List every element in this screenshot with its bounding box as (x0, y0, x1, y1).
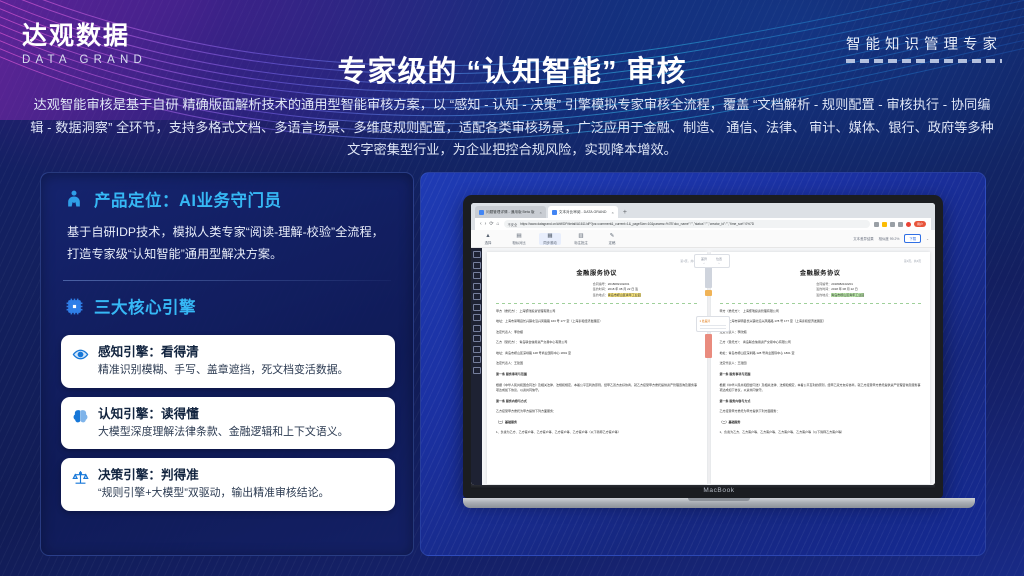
app-toolbar: ▲ 选择 ▤ 相似对比 ▦ 同步滚动 (471, 230, 935, 248)
warning-icon[interactable] (473, 356, 481, 363)
engine-card-desc: “规则引擎+大模型”双驱动，输出精准审核结论。 (98, 485, 329, 501)
toolbar-button-annotate[interactable]: ▥ 标注批注 (570, 233, 592, 245)
meta-key: 签约时间： (593, 287, 608, 291)
nav-buttons[interactable]: ‹ › ⟳ ⌂ (480, 221, 500, 227)
meta-value: 2018082102201 (831, 282, 853, 286)
meta-value: 2018 年 08 月 22 日 (831, 287, 858, 291)
file-icon[interactable] (473, 293, 481, 300)
engine-card-desc: 精准识别模糊、手写、盖章遮挡，死文档变活数据。 (98, 362, 349, 378)
doc-paragraph: 甲方（委托方）： 上海聚瑞投资管理有限公司 (720, 309, 922, 315)
eye-icon (71, 345, 90, 364)
toolbar-label: 同步滚动 (539, 240, 561, 245)
document-meta: 合同编号：2018082102201 签约时间：2018 年 08 月 22 日… (496, 282, 698, 298)
doc-paragraph: 乙方（受托方）： 青岛联合信用资产交易中心有限公司 (720, 340, 922, 346)
page-title: 专家级的 “认知智能” 审核 (0, 48, 1024, 90)
url-input[interactable]: 不安全 https://www.datagrand.cn/#/df/DP/det… (504, 220, 870, 228)
browser-tab-title: 文本对比审阅 - DATA GRAND (559, 210, 607, 215)
file-icon[interactable] (473, 335, 481, 342)
brand-name-cn: 达观数据 (22, 22, 202, 51)
diff-nav-next-icon[interactable]: › (719, 261, 720, 265)
browser-tab-active[interactable]: 文本对比审阅 - DATA GRAND × (548, 206, 618, 218)
meta-key: 合同编号： (816, 282, 831, 286)
engine-card-decision[interactable]: 决策引擎：判得准 “规则引擎+大模型”双驱动，输出精准审核结论。 (61, 458, 395, 510)
doc-paragraph: 1、负责为乙方、乙方客户等、乙方客户等、乙方客户等、乙方客户等（以下简称乙方客户… (720, 430, 922, 436)
bookmark-star-icon[interactable] (882, 222, 887, 227)
engines-section-header: 三大核心引擎 (41, 281, 413, 318)
toolbar-button-sync-scroll[interactable]: ▦ 同步滚动 (539, 233, 561, 245)
doc-heading: （二）基础服务 (496, 420, 698, 426)
meta-row: 签约地点：青岛市崂山区青年工业园 (593, 293, 698, 298)
meta-value: 2018082102201 (608, 282, 630, 286)
document-title: 金融服务协议 (720, 268, 922, 277)
highlight-icon: ▦ (539, 233, 561, 240)
toolbar-tools: ▲ 选择 ▤ 相似对比 ▦ 同步滚动 (477, 233, 623, 245)
doc-paragraph: 地址：青岛市崂山区深圳路 128 号商业国际中心 1801 室 (496, 351, 698, 357)
meta-value-highlighted: 青岛市崂山区青年工业园 (831, 293, 864, 297)
forward-icon[interactable]: › (485, 221, 487, 227)
tab-close-icon[interactable]: × (540, 210, 542, 215)
meta-key: 合同编号： (593, 282, 608, 286)
doc-paragraph: 地址：上海市崇明县长兴镇北沿兴凤路路 163 号 177 室（上海泰和经济发展区… (496, 319, 698, 325)
toolbar-label: 选择 (477, 240, 499, 245)
diff-mini-toolbar[interactable]: 差异位置 ‹› (694, 254, 730, 268)
export-icon: ✎ (601, 233, 623, 240)
share-icon[interactable] (898, 222, 903, 227)
download-button[interactable]: 下载 (904, 234, 921, 243)
compare-icon: ▤ (508, 233, 530, 240)
device-label: MacBook (463, 487, 975, 494)
diff-marker-orange[interactable] (705, 290, 712, 296)
engine-card-desc: 大模型深度理解法律条款、金融逻辑和上下文语义。 (98, 424, 349, 440)
tab-close-icon[interactable]: × (611, 210, 613, 215)
similarity-status: 相似度 99.2% (879, 236, 900, 241)
browser-chrome: 问题管理详情 - 通用版 Beta 版 × 文本对比审阅 - DATA GRAN… (471, 203, 935, 230)
laptop-mockup: 问题管理详情 - 通用版 Beta 版 × 文本对比审阅 - DATA GRAN… (463, 195, 943, 508)
app-body: 第1页，共4页 金融服务协议 合同编号：2018082102201 签约时间：2… (471, 248, 935, 485)
document-meta: 合同编号：2018082102201 签约时间：2018 年 08 月 22 日… (720, 282, 922, 298)
doc-heading: 第一条 服务内容与方式 (720, 399, 922, 405)
right-mockup-panel: 问题管理详情 - 通用版 Beta 版 × 文本对比审阅 - DATA GRAN… (420, 172, 986, 556)
profile-badge[interactable]: 用户 (914, 221, 926, 227)
browser-action-icons[interactable]: 用户 (874, 221, 926, 227)
puzzle-icon[interactable] (890, 222, 895, 227)
new-tab-button[interactable]: + (623, 208, 627, 218)
page-corner-note: 第1页，共4页 (720, 259, 922, 263)
laptop-screen: 问题管理详情 - 通用版 Beta 版 × 文本对比审阅 - DATA GRAN… (471, 203, 935, 485)
meta-value-highlighted: 青岛市崂山区青年工业园 (608, 293, 641, 297)
doc-paragraph: 法定代表人：李欣媚 (720, 330, 922, 336)
doc-paragraph: 乙方接受甲方委托为甲方提供下列方面服务： (496, 409, 698, 415)
doc-paragraph: 根据《中华人民共和国合同法》及相关法律、法规和规定，本着公平互利的原则，经甲乙双… (720, 383, 922, 394)
meta-key: 签约地点： (816, 293, 831, 297)
security-label: 不安全 (508, 222, 518, 227)
doc-paragraph: 法定代表人：李欣媚 (496, 330, 698, 336)
diff-separator-line (496, 303, 698, 304)
positioning-body: 基于自研IDP技术，模拟人类专家“阅读-理解-校验”全流程，打造专家级“认知智能… (41, 211, 413, 265)
meta-value: 2018 年 08 月 22 日 签 (608, 287, 638, 291)
brain-icon (71, 407, 90, 426)
laptop-base-wrap: MacBook (463, 498, 943, 508)
page-corner-note: 第1页，共4页 (496, 259, 698, 263)
scales-icon (71, 468, 90, 487)
more-button[interactable]: ⌄ (926, 237, 929, 241)
laptop-lid: 问题管理详情 - 通用版 Beta 版 × 文本对比审阅 - DATA GRAN… (463, 195, 943, 498)
note-icon: ▥ (570, 233, 592, 240)
engine-card-cognition[interactable]: 认知引擎：读得懂 大模型深度理解法律条款、金融逻辑和上下文语义。 (61, 397, 395, 449)
diff-separator-line (720, 303, 922, 304)
browser-tab-strip: 问题管理详情 - 通用版 Beta 版 × 文本对比审阅 - DATA GRAN… (475, 205, 931, 218)
engine-card-title: 决策引擎：判得准 (98, 468, 199, 482)
left-info-panel: 产品定位：AI业务守门员 基于自研IDP技术，模拟人类专家“阅读-理解-校验”全… (40, 172, 414, 556)
document-page-left[interactable]: 第1页，共4页 金融服务协议 合同编号：2018082102201 签约时间：2… (487, 252, 707, 484)
doc-heading: 第一条 服务内容与方式 (496, 399, 698, 405)
toolbar-label: 相似对比 (508, 240, 530, 245)
toolbar-label: 标注批注 (570, 240, 592, 245)
chip-icon (63, 295, 85, 317)
browser-tab-inactive[interactable]: 问题管理详情 - 通用版 Beta 版 × (475, 206, 546, 218)
engine-card-list: 感知引擎：看得清 精准识别模糊、手写、盖章遮挡，死文档变活数据。 认知引擎：读得… (41, 318, 413, 510)
doc-paragraph: 法定代表人：王建国 (496, 361, 698, 367)
document-page-right[interactable]: 第1页，共4页 金融服务协议 合同编号：2018082102201 签约时间：2… (711, 252, 931, 484)
file-icon[interactable] (473, 346, 481, 353)
doc-heading: 第一条 服务事项与范围 (720, 372, 922, 378)
file-icon[interactable] (473, 304, 481, 311)
meta-row: 签约地点：青岛市崂山区青年工业园 (816, 293, 921, 298)
diff-nav-prev-icon[interactable]: ‹ (704, 261, 705, 265)
meta-key: 签约时间： (816, 287, 831, 291)
toolbar-label: 定稿 (601, 240, 623, 245)
diff-callout-chip[interactable]: 1 处差异 (696, 316, 730, 332)
cursor-icon: ▲ (477, 233, 499, 240)
doc-heading: （二）基础服务 (720, 420, 922, 426)
back-icon[interactable]: ‹ (480, 221, 482, 227)
document-compare-pane: 第1页，共4页 金融服务协议 合同编号：2018082102201 签约时间：2… (482, 248, 935, 485)
file-icon[interactable] (473, 272, 481, 279)
file-icon[interactable] (473, 367, 481, 374)
doc-paragraph: 甲方（委托方）： 上海聚瑞投资管理有限公司 (496, 309, 698, 315)
reload-icon[interactable]: ⟳ (489, 221, 493, 227)
left-rail[interactable] (471, 248, 482, 485)
toolbar-button-compare[interactable]: ▤ 相似对比 (508, 233, 530, 245)
doc-paragraph: 1、负责为乙方、乙方客户等、乙方客户等、乙方客户等、乙方客户等（以下简称乙方客户… (496, 430, 698, 436)
url-text: https://www.datagrand.cn/#/df/DP/detail/… (520, 222, 754, 226)
diff-middle-column: 差异位置 ‹› 1 处差异 (694, 248, 724, 485)
engine-card-perception[interactable]: 感知引擎：看得清 精准识别模糊、手写、盖章遮挡，死文档变活数据。 (61, 335, 395, 387)
engine-card-title: 认知引擎：读得懂 (98, 407, 199, 421)
toolbar-right: 文本差异结果 相似度 99.2% 下载 ⌄ (853, 234, 929, 243)
menu-icon[interactable] (473, 251, 481, 258)
tab-favicon-icon (479, 210, 484, 215)
account-icon[interactable] (906, 222, 911, 227)
toolbar-button-finalize[interactable]: ✎ 定稿 (601, 233, 623, 245)
tab-favicon-icon (552, 210, 557, 215)
positioning-section-header: 产品定位：AI业务守门员 (41, 173, 413, 211)
doc-paragraph: 法定代表人：王建国 (720, 361, 922, 367)
file-icon[interactable] (473, 325, 481, 332)
document-title: 金融服务协议 (496, 268, 698, 277)
meta-key: 签约地点： (593, 293, 608, 297)
laptop-base: MacBook (463, 498, 975, 508)
chip-line (700, 328, 726, 329)
doc-paragraph: 地址：上海市崇明县长兴镇北沿兴凤路路 178 号 177 室（上海泰和经济发展区… (720, 319, 922, 325)
doc-paragraph: 地址：青岛市崂山区深圳路 128 号商业国际中心 1801 室 (720, 351, 922, 357)
home-icon[interactable]: ⌂ (497, 221, 500, 227)
toolbar-button-select[interactable]: ▲ 选择 (477, 233, 499, 245)
diff-count-tag: 1 处差异 (700, 319, 726, 323)
doc-heading: 第一条 服务事项与范围 (496, 372, 698, 378)
positioning-title: 产品定位：AI业务守门员 (94, 187, 282, 211)
diff-status-left: 文本差异结果 (853, 236, 873, 241)
file-icon[interactable] (473, 314, 481, 321)
slide-root: 达观数据 DATA GRAND 智能知识管理专家 专家级的 “认知智能” 审核 … (0, 0, 1024, 576)
doc-paragraph: 乙方（受托方）： 青岛联合信用资产交易中心有限公司 (496, 340, 698, 346)
doc-paragraph: 乙方接受甲方委托为甲方提供下列方面服务： (720, 409, 922, 415)
page-description: 达观智能审核是基于自研 精确版面解析技术的通用型智能审核方案，以 “感知 - 认… (30, 94, 994, 162)
browser-address-bar: ‹ › ⟳ ⌂ 不安全 https://www.datagrand.cn/#/d… (475, 218, 931, 230)
chip-line (700, 325, 726, 326)
browser-tab-title: 问题管理详情 - 通用版 Beta 版 (486, 210, 535, 215)
extensions-icon[interactable] (874, 222, 879, 227)
file-icon[interactable] (473, 262, 481, 269)
engines-title: 三大核心引擎 (94, 294, 196, 318)
doc-paragraph: 根据《中华人民共和国合同法》及相关法律、法规和规定，本着公平互利的原则，经甲乙双… (496, 383, 698, 394)
grid-icon[interactable] (473, 283, 481, 290)
diff-marker-red[interactable] (705, 334, 712, 358)
person-tie-icon (63, 188, 85, 210)
engine-card-title: 感知引擎：看得清 (98, 345, 199, 359)
